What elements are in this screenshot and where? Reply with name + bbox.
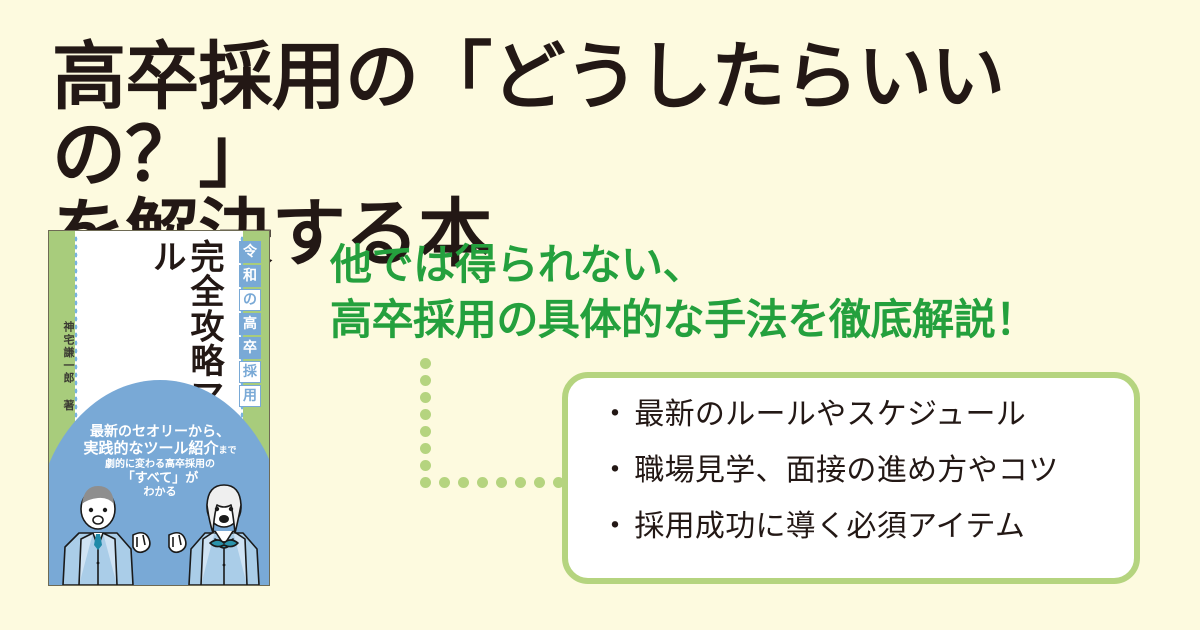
caption-line-2: 実践的なツール紹介まで [49, 440, 270, 458]
connector-dot [458, 477, 469, 488]
promo-banner: 高卒採用の「どうしたらいいの？」 を解決する本 他では得られない、 高卒採用の具… [0, 0, 1200, 630]
list-item-label: 採用成功に導く必須アイテム [634, 512, 1025, 542]
connector-dot [477, 477, 488, 488]
connector-dot [420, 443, 431, 454]
connector-dot [420, 460, 431, 471]
connector-dot [420, 358, 431, 369]
connector-dot [420, 477, 431, 488]
book-cover: 令 和 の 高 卒 採 用 完全攻略マニュアル 神宅謙一郎 著 最新のセオリーか… [48, 230, 270, 586]
connector-dot [439, 477, 450, 488]
connector-dot [515, 477, 526, 488]
list-item: ・ 最新のルールやスケジュール [600, 400, 1134, 430]
connector-dot [420, 392, 431, 403]
series-char: 用 [239, 385, 261, 407]
connector-dot [420, 375, 431, 386]
illustration-female-student [163, 473, 263, 585]
connector-dot [420, 409, 431, 420]
caption-line-3: 劇的に変わる高卒採用の [49, 459, 270, 471]
illustration-male-student [59, 473, 155, 585]
book-author: 神宅謙一郎 著 [51, 321, 75, 412]
connector-dot [534, 477, 545, 488]
list-item: ・ 職場見学、面接の進め方やコツ [600, 456, 1134, 486]
series-char: 採 [239, 361, 261, 383]
subtitle-text: 他では得られない、 高卒採用の具体的な手法を徹底解説！ [330, 238, 1170, 347]
list-item-label: 最新のルールやスケジュール [634, 400, 1026, 430]
series-char: 和 [239, 265, 261, 287]
book-series-label: 令 和 の 高 卒 採 用 [239, 241, 261, 407]
connector-dot [420, 426, 431, 437]
series-char: 令 [239, 241, 261, 263]
connector-dot [496, 477, 507, 488]
caption-line-1: 最新のセオリーから、 [49, 424, 270, 441]
feature-list-box: ・ 最新のルールやスケジュール ・ 職場見学、面接の進め方やコツ ・ 採用成功に… [562, 372, 1140, 584]
series-char: 高 [239, 313, 261, 335]
series-char: の [239, 289, 261, 311]
list-item: ・ 採用成功に導く必須アイテム [600, 512, 1134, 542]
series-char: 卒 [239, 337, 261, 359]
list-item-label: 職場見学、面接の進め方やコツ [634, 456, 1058, 486]
bullet-mark-icon: ・ [600, 456, 630, 486]
caption-line-2-suffix: まで [219, 446, 237, 456]
caption-line-2-main: 実践的なツール紹介 [83, 439, 218, 457]
bullet-mark-icon: ・ [600, 512, 630, 542]
bullet-mark-icon: ・ [600, 400, 630, 430]
